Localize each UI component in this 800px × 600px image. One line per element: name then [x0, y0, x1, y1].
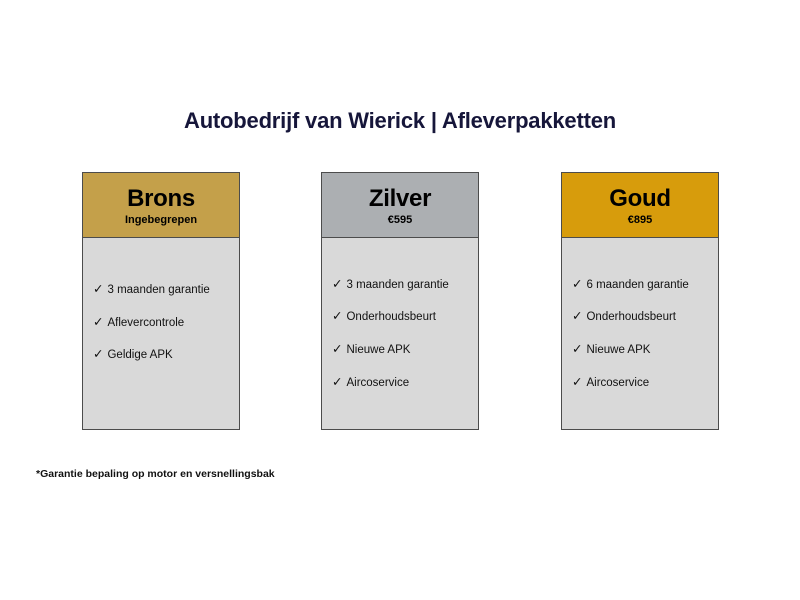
check-icon: ✓	[572, 342, 582, 358]
feature-label: Geldige APK	[107, 348, 172, 362]
pricing-card-zilver[interactable]: Zilver €595 ✓ 3 maanden garantie ✓ Onder…	[321, 172, 479, 430]
card-features-goud: ✓ 6 maanden garantie ✓ Onderhoudsbeurt ✓…	[562, 238, 718, 429]
check-icon: ✓	[332, 309, 342, 325]
feature-label: Nieuwe APK	[586, 343, 650, 357]
page-title: Autobedrijf van Wierick | Afleverpakkett…	[0, 108, 800, 134]
card-header-zilver: Zilver €595	[322, 173, 478, 238]
feature-label: 3 maanden garantie	[346, 278, 448, 292]
card-header-goud: Goud €895	[562, 173, 718, 238]
feature-item: ✓ Geldige APK	[93, 347, 239, 363]
feature-label: Aircoservice	[586, 376, 649, 390]
check-icon: ✓	[93, 282, 103, 298]
card-price-brons: Ingebegrepen	[125, 214, 197, 226]
check-icon: ✓	[93, 347, 103, 363]
feature-item: ✓ Aircoservice	[572, 375, 718, 391]
feature-item: ✓ Aflevercontrole	[93, 315, 239, 331]
check-icon: ✓	[332, 375, 342, 391]
feature-item: ✓ Aircoservice	[332, 375, 478, 391]
feature-item: ✓ 6 maanden garantie	[572, 277, 718, 293]
check-icon: ✓	[93, 315, 103, 331]
card-features-brons: ✓ 3 maanden garantie ✓ Aflevercontrole ✓…	[83, 238, 239, 429]
feature-label: 6 maanden garantie	[586, 278, 688, 292]
card-price-goud: €895	[628, 214, 652, 226]
card-features-zilver: ✓ 3 maanden garantie ✓ Onderhoudsbeurt ✓…	[322, 238, 478, 429]
card-title-goud: Goud	[609, 186, 670, 211]
card-title-brons: Brons	[127, 186, 195, 211]
card-price-zilver: €595	[388, 214, 412, 226]
slide-canvas: Autobedrijf van Wierick | Afleverpakkett…	[0, 0, 800, 600]
feature-label: Nieuwe APK	[346, 343, 410, 357]
feature-item: ✓ Nieuwe APK	[572, 342, 718, 358]
check-icon: ✓	[332, 277, 342, 293]
feature-item: ✓ 3 maanden garantie	[93, 282, 239, 298]
feature-label: 3 maanden garantie	[107, 283, 209, 297]
check-icon: ✓	[332, 342, 342, 358]
feature-item: ✓ Onderhoudsbeurt	[332, 309, 478, 325]
pricing-card-goud[interactable]: Goud €895 ✓ 6 maanden garantie ✓ Onderho…	[561, 172, 719, 430]
check-icon: ✓	[572, 277, 582, 293]
feature-item: ✓ 3 maanden garantie	[332, 277, 478, 293]
feature-label: Onderhoudsbeurt	[346, 310, 436, 324]
feature-item: ✓ Nieuwe APK	[332, 342, 478, 358]
check-icon: ✓	[572, 375, 582, 391]
check-icon: ✓	[572, 309, 582, 325]
feature-label: Aflevercontrole	[107, 316, 184, 330]
card-title-zilver: Zilver	[369, 186, 431, 211]
feature-label: Onderhoudsbeurt	[586, 310, 676, 324]
card-header-brons: Brons Ingebegrepen	[83, 173, 239, 238]
pricing-card-brons[interactable]: Brons Ingebegrepen ✓ 3 maanden garantie …	[82, 172, 240, 430]
feature-item: ✓ Onderhoudsbeurt	[572, 309, 718, 325]
feature-label: Aircoservice	[346, 376, 409, 390]
footnote-text: *Garantie bepaling op motor en versnelli…	[36, 468, 275, 480]
